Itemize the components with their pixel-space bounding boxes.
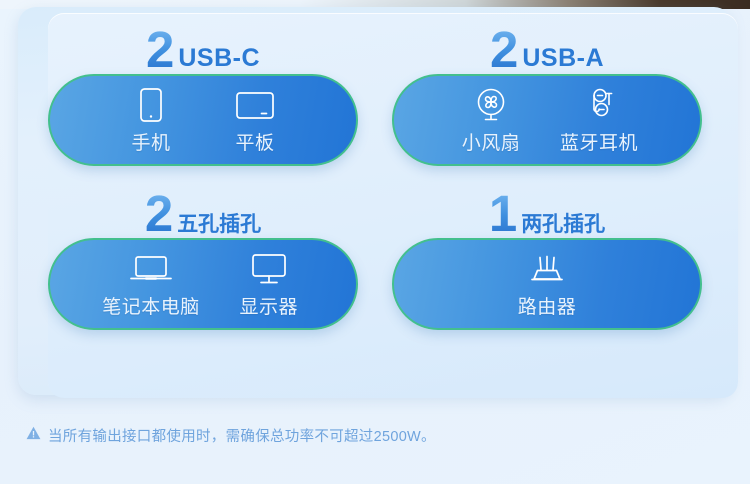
device-list: 小风扇 — [394, 86, 700, 155]
port-pill[interactable]: 路由器 — [392, 238, 702, 330]
group-heading: 2 五孔插孔 — [48, 180, 358, 238]
group-count: 2 — [146, 27, 178, 74]
port-pill[interactable]: 小风扇 — [392, 74, 702, 166]
device-item[interactable]: 显示器 — [234, 250, 304, 319]
device-label: 蓝牙耳机 — [560, 128, 638, 155]
port-group-usb-a: 2 USB-A — [392, 16, 702, 166]
device-label: 小风扇 — [462, 128, 521, 155]
device-label: 显示器 — [239, 292, 298, 319]
group-count: 1 — [489, 191, 521, 238]
bluetooth-earbuds-icon — [582, 86, 616, 124]
warning-triangle-icon — [26, 426, 41, 445]
group-heading: 2 USB-A — [392, 16, 702, 74]
device-list: 笔记本电脑 显示器 — [50, 250, 356, 319]
device-item[interactable]: 手机 — [116, 86, 186, 155]
device-item[interactable]: 小风扇 — [456, 86, 526, 155]
port-group-two-hole-socket: 1 两孔插孔 — [392, 180, 702, 330]
port-group-five-hole-socket: 2 五孔插孔 笔记本电脑 — [48, 180, 358, 330]
device-item[interactable]: 路由器 — [512, 250, 582, 319]
device-item[interactable]: 平板 — [220, 86, 290, 155]
tablet-icon — [235, 86, 275, 124]
port-pill[interactable]: 手机 平板 — [48, 74, 358, 166]
group-label: 两孔插孔 — [521, 214, 605, 238]
device-item[interactable]: 笔记本电脑 — [102, 250, 200, 319]
group-label: 五孔插孔 — [177, 214, 261, 238]
group-heading: 1 两孔插孔 — [392, 180, 702, 238]
group-heading: 2 USB-C — [48, 16, 358, 74]
device-label: 路由器 — [518, 292, 577, 319]
monitor-icon — [250, 250, 288, 288]
group-label: USB-C — [178, 46, 260, 74]
group-count: 2 — [490, 27, 522, 74]
device-label: 手机 — [131, 128, 170, 155]
group-count: 2 — [145, 191, 177, 238]
port-group-grid: 2 USB-C 手机 — [48, 16, 702, 330]
device-list: 手机 平板 — [50, 86, 356, 155]
device-item[interactable]: 蓝牙耳机 — [560, 86, 638, 155]
port-pill[interactable]: 笔记本电脑 显示器 — [48, 238, 358, 330]
laptop-icon — [129, 250, 173, 288]
power-warning-note: 当所有输出接口都使用时，需确保总功率不可超过2500W。 — [26, 425, 436, 446]
port-group-usb-c: 2 USB-C 手机 — [48, 16, 358, 166]
promo-spec-panel: 2 USB-C 手机 — [0, 0, 750, 484]
warning-text: 当所有输出接口都使用时，需确保总功率不可超过2500W。 — [48, 425, 436, 446]
group-label: USB-A — [522, 46, 604, 74]
router-icon — [525, 250, 569, 288]
device-list: 路由器 — [394, 250, 700, 319]
phone-icon — [139, 86, 163, 124]
fan-icon — [473, 86, 509, 124]
device-label: 笔记本电脑 — [102, 292, 200, 319]
device-label: 平板 — [235, 128, 274, 155]
